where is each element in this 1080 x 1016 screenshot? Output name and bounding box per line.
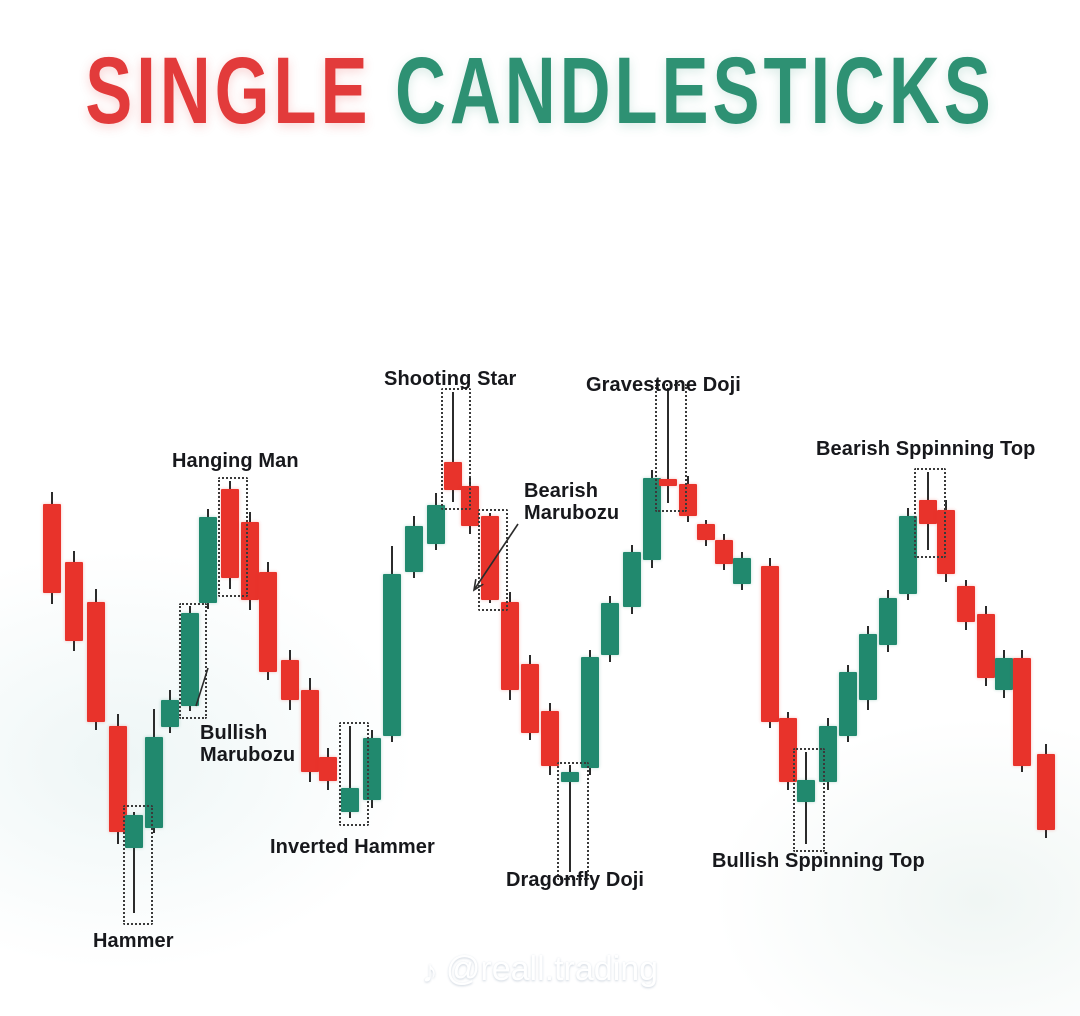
tiktok-note-icon: ♪ (422, 953, 438, 990)
candlestick-chart: Hanging ManBullish MarubozuHammerInverte… (0, 0, 1080, 1016)
infographic-canvas: SINGLE CANDLESTICKS Hanging ManBullish M… (0, 0, 1080, 1016)
watermark-handle: @reall.trading (446, 950, 658, 988)
arrow-bearish-marubozu (0, 0, 1080, 1016)
watermark: ♪@reall.trading (0, 950, 1080, 990)
